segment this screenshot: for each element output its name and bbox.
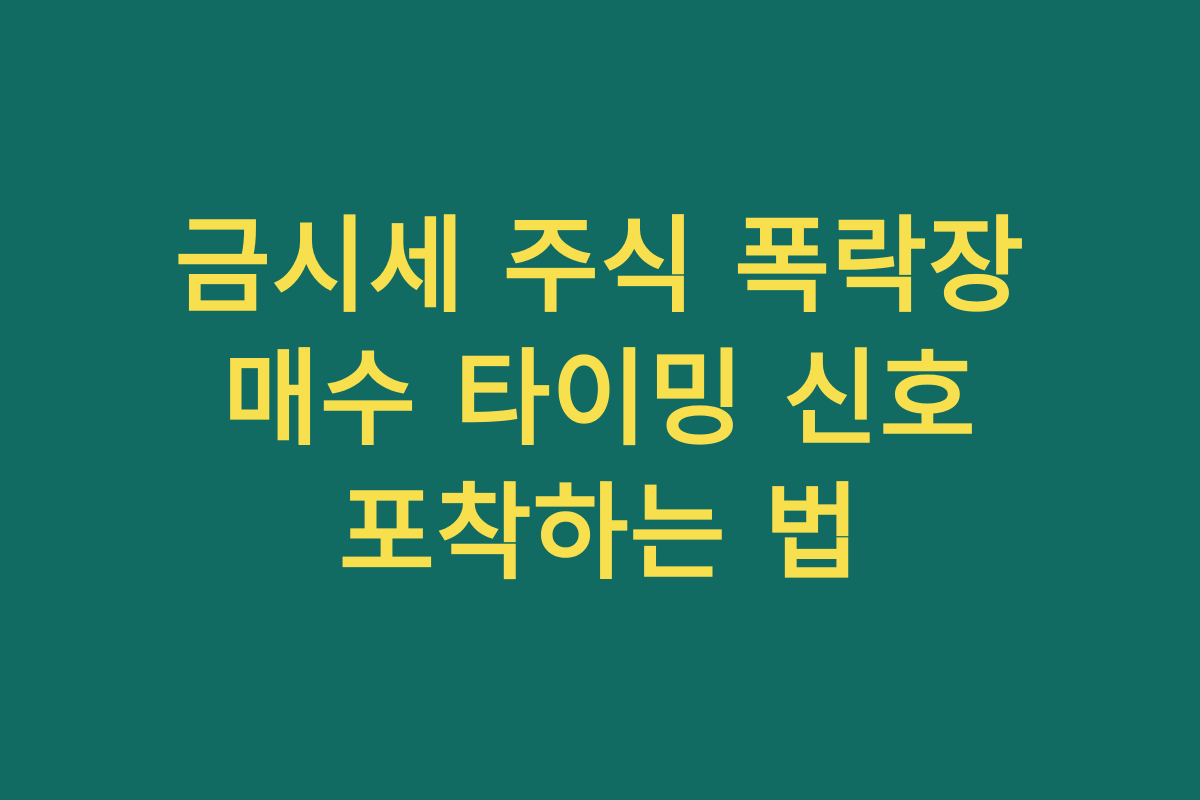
title-block: 금시세 주식 폭락장 매수 타이밍 신호 포착하는 법 (65, 200, 1135, 599)
page-title: 금시세 주식 폭락장 매수 타이밍 신호 포착하는 법 (65, 200, 1135, 599)
title-card: 금시세 주식 폭락장 매수 타이밍 신호 포착하는 법 (0, 0, 1200, 800)
